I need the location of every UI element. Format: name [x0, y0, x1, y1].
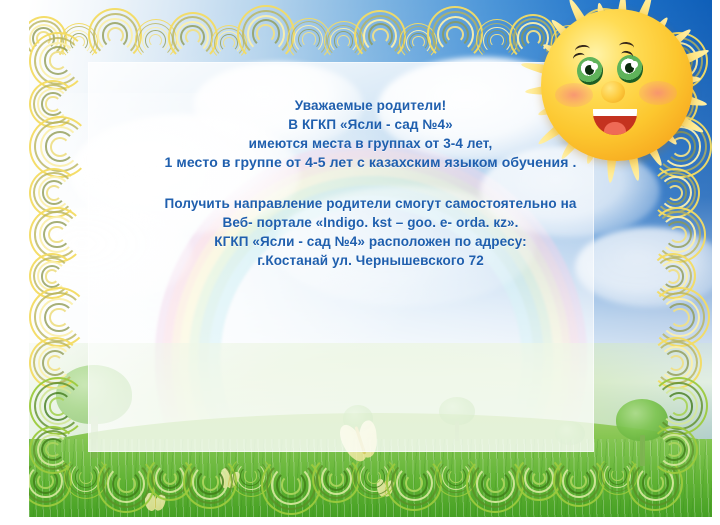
butterfly-icon	[145, 493, 165, 511]
tree-icon	[616, 399, 668, 465]
poster-canvas: Уважаемые родители!В КГКП «Ясли - сад №4…	[0, 0, 720, 525]
text-line: Уважаемые родители!	[29, 96, 712, 115]
text-line: 1 место в группе от 4-5 лет с казахским …	[29, 153, 712, 172]
text-line: В КГКП «Ясли - сад №4»	[29, 115, 712, 134]
text-line: Получить направление родители смогут сам…	[29, 194, 712, 213]
butterfly-icon	[377, 479, 393, 497]
text-line: имеются места в группах от 3-4 лет,	[29, 134, 712, 153]
text-line: г.Костанай ул. Чернышевского 72	[29, 251, 712, 270]
text-line: Веб- портале «Indigo. kst – goo. e- orda…	[29, 213, 712, 232]
text-line: КГКП «Ясли - сад №4» расположен по адрес…	[29, 232, 712, 251]
poster: Уважаемые родители!В КГКП «Ясли - сад №4…	[29, 0, 712, 517]
announcement-text: Уважаемые родители!В КГКП «Ясли - сад №4…	[29, 96, 712, 270]
paragraph-instructions: Получить направление родители смогут сам…	[29, 194, 712, 270]
paragraph-announcement: Уважаемые родители!В КГКП «Ясли - сад №4…	[29, 96, 712, 172]
